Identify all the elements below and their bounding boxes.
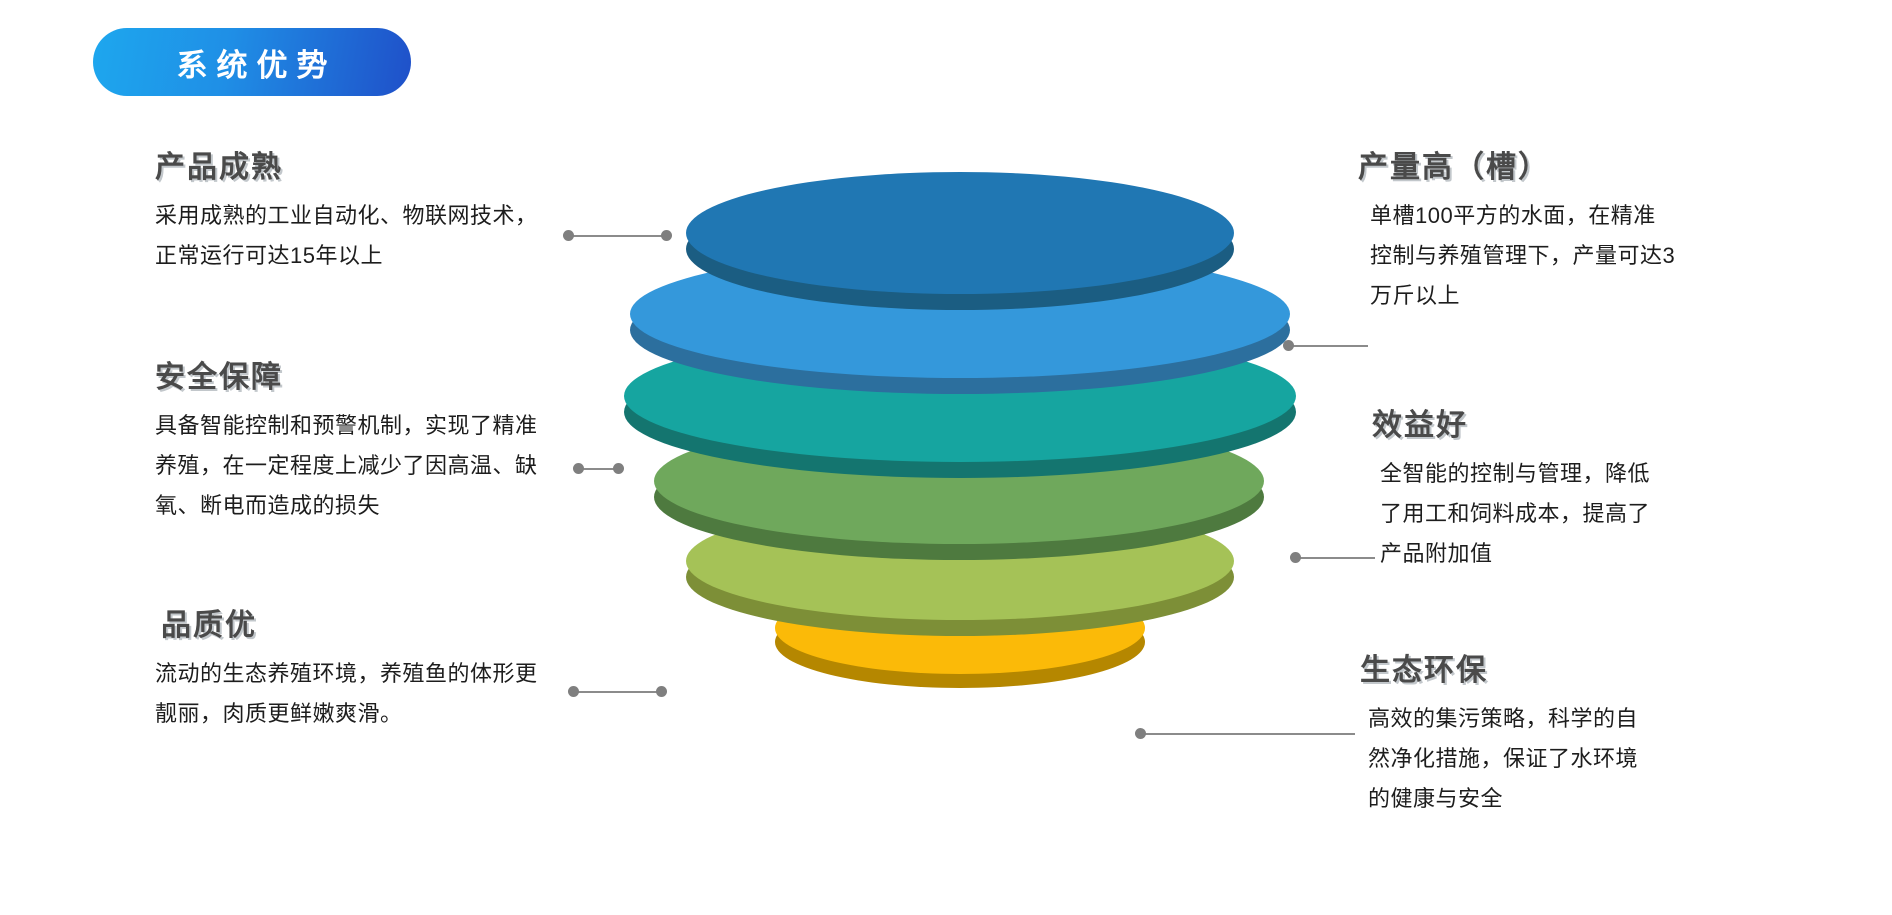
- stacked-disc-graphic: [600, 150, 1300, 790]
- connector-line-left-2: [578, 468, 618, 470]
- connector-dot-left-3-inner: [656, 686, 667, 697]
- disc-layer-1-face: [686, 172, 1234, 294]
- connector-line-right-3: [1140, 733, 1355, 735]
- connector-dot-right-1-inner: [1283, 340, 1294, 351]
- connector-dot-left-3-outer: [568, 686, 579, 697]
- connector-dot-left-2-inner: [613, 463, 624, 474]
- connector-dot-left-1-outer: [563, 230, 574, 241]
- feature-body-right-3: 高效的集污策略，科学的自然净化措施，保证了水环境的健康与安全: [1360, 699, 1660, 819]
- feature-block-left-2: 安全保障 具备智能控制和预警机制，实现了精准养殖，在一定程度上减少了因高温、缺氧…: [155, 352, 545, 526]
- feature-body-right-2: 全智能的控制与管理，降低了用工和饲料成本，提高了产品附加值: [1372, 454, 1672, 574]
- section-badge: 系统优势: [93, 28, 411, 96]
- feature-block-left-3: 品质优 流动的生态养殖环境，养殖鱼的体形更靓丽，肉质更鲜嫩爽滑。: [155, 600, 545, 734]
- feature-body-right-1: 单槽100平方的水面，在精准控制与养殖管理下，产量可达3万斤以上: [1358, 196, 1678, 316]
- feature-title-left-1: 产品成熟: [155, 142, 545, 186]
- disc-layer-1: [686, 172, 1234, 294]
- connector-line-right-1: [1288, 345, 1368, 347]
- feature-body-left-3: 流动的生态养殖环境，养殖鱼的体形更靓丽，肉质更鲜嫩爽滑。: [155, 654, 545, 734]
- feature-title-right-2: 效益好: [1372, 400, 1672, 444]
- section-badge-label: 系统优势: [168, 40, 337, 85]
- feature-title-left-3: 品质优: [155, 600, 545, 644]
- connector-dot-right-2-inner: [1290, 552, 1301, 563]
- connector-dot-left-1-inner: [661, 230, 672, 241]
- feature-block-right-1: 产量高（槽） 单槽100平方的水面，在精准控制与养殖管理下，产量可达3万斤以上: [1358, 142, 1678, 316]
- feature-title-right-1: 产量高（槽）: [1358, 142, 1678, 186]
- infographic-canvas: 系统优势: [0, 0, 1892, 915]
- feature-block-left-1: 产品成熟 采用成熟的工业自动化、物联网技术，正常运行可达15年以上: [155, 142, 545, 276]
- feature-body-left-2: 具备智能控制和预警机制，实现了精准养殖，在一定程度上减少了因高温、缺氧、断电而造…: [155, 406, 545, 526]
- connector-line-left-1: [568, 235, 666, 237]
- connector-dot-left-2-outer: [573, 463, 584, 474]
- feature-title-right-3: 生态环保: [1360, 645, 1660, 689]
- connector-line-left-3: [573, 691, 663, 693]
- feature-title-left-2: 安全保障: [155, 352, 545, 396]
- connector-dot-right-3-inner: [1135, 728, 1146, 739]
- feature-block-right-2: 效益好 全智能的控制与管理，降低了用工和饲料成本，提高了产品附加值: [1372, 400, 1672, 574]
- feature-body-left-1: 采用成熟的工业自动化、物联网技术，正常运行可达15年以上: [155, 196, 545, 276]
- feature-block-right-3: 生态环保 高效的集污策略，科学的自然净化措施，保证了水环境的健康与安全: [1360, 645, 1660, 819]
- connector-line-right-2: [1295, 557, 1375, 559]
